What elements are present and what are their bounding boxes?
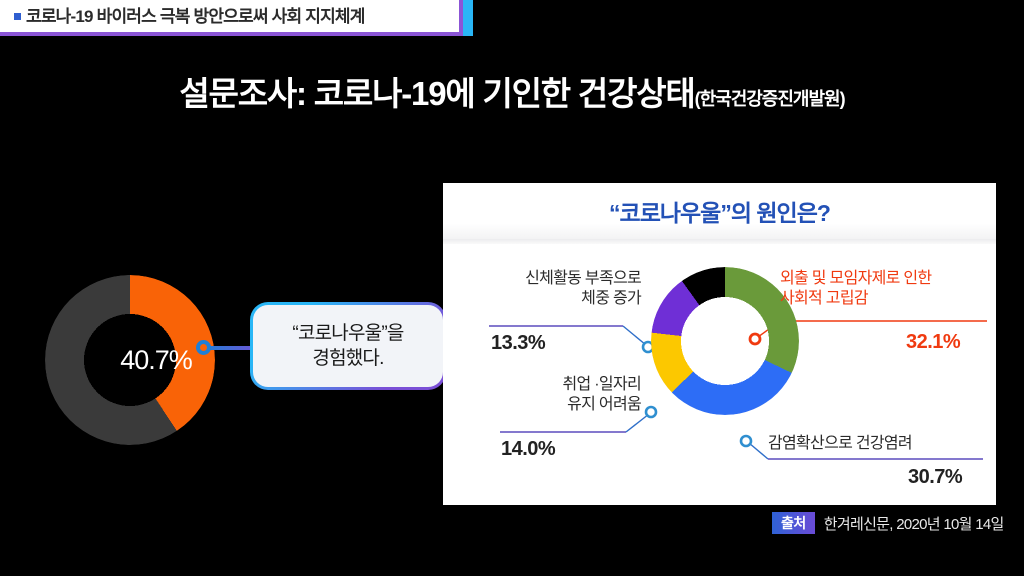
slice-percent-job: 14.0%	[501, 438, 555, 461]
ribbon-accent-bar	[463, 0, 473, 36]
causes-panel-header: “코로나우울”의 원인은?	[443, 183, 996, 239]
slice-label-job-line2: 유지 어려움	[473, 395, 641, 415]
causes-donut-chart	[651, 267, 799, 415]
slice-percent-isolation: 32.1%	[906, 331, 960, 354]
experience-donut-chart: 40.7%	[45, 275, 215, 445]
callout-line-1: “코로나우울”을	[292, 321, 403, 346]
slice-label-health: 감염확산으로 건강염려	[768, 434, 978, 454]
square-bullet-icon	[14, 13, 21, 20]
section-ribbon: 코로나-19 바이러스 극복 방안으로써 사회 지지체계	[0, 0, 463, 36]
page-title-organization: (한국건강증진개발원)	[695, 89, 845, 109]
slice-label-isolation-line2: 사회적 고립감	[780, 289, 990, 309]
connector-dot-icon	[196, 340, 211, 355]
slice-label-weight: 신체활동 부족으로 체중 증가	[481, 269, 641, 309]
callout-line-2: 경험했다.	[312, 346, 383, 371]
slice-label-job: 취업 ·일자리 유지 어려움	[473, 375, 641, 415]
source-badge: 출처	[772, 512, 815, 534]
source-text: 한겨레신문, 2020년 10월 14일	[815, 512, 1004, 534]
causes-panel-title: “코로나우울”의 원인은?	[609, 194, 830, 228]
page-title: 설문조사: 코로나-19에 기인한 건강상태(한국건강증진개발원)	[0, 74, 1024, 114]
slice-label-weight-line2: 체중 증가	[481, 289, 641, 309]
section-ribbon-label: 코로나-19 바이러스 극복 방안으로써 사회 지지체계	[26, 8, 365, 25]
slice-label-health-line1: 감염확산으로 건강염려	[768, 434, 978, 454]
slice-label-weight-line1: 신체활동 부족으로	[481, 269, 641, 289]
slice-percent-weight: 13.3%	[491, 332, 545, 355]
causes-panel: “코로나우울”의 원인은?	[443, 183, 996, 505]
experience-donut-value: 40.7%	[45, 275, 215, 445]
slice-label-isolation: 외출 및 모임자제로 인한 사회적 고립감	[780, 269, 990, 309]
page-title-main: 설문조사: 코로나-19에 기인한 건강상태	[179, 75, 694, 112]
slice-label-isolation-line1: 외출 및 모임자제로 인한	[780, 269, 990, 289]
causes-donut-ring	[651, 267, 799, 415]
source-citation: 출처 한겨레신문, 2020년 10월 14일	[772, 512, 1004, 534]
causes-chart-area: 신체활동 부족으로 체중 증가 13.3% 취업 ·일자리 유지 어려움 14.…	[443, 244, 996, 505]
slice-label-job-line1: 취업 ·일자리	[473, 375, 641, 395]
slide-canvas: 코로나-19 바이러스 극복 방안으로써 사회 지지체계 설문조사: 코로나-1…	[0, 0, 1024, 576]
experience-callout: “코로나우울”을 경험했다.	[250, 302, 446, 390]
experience-callout-inner: “코로나우울”을 경험했다.	[253, 305, 443, 387]
slice-percent-health: 30.7%	[908, 466, 962, 489]
